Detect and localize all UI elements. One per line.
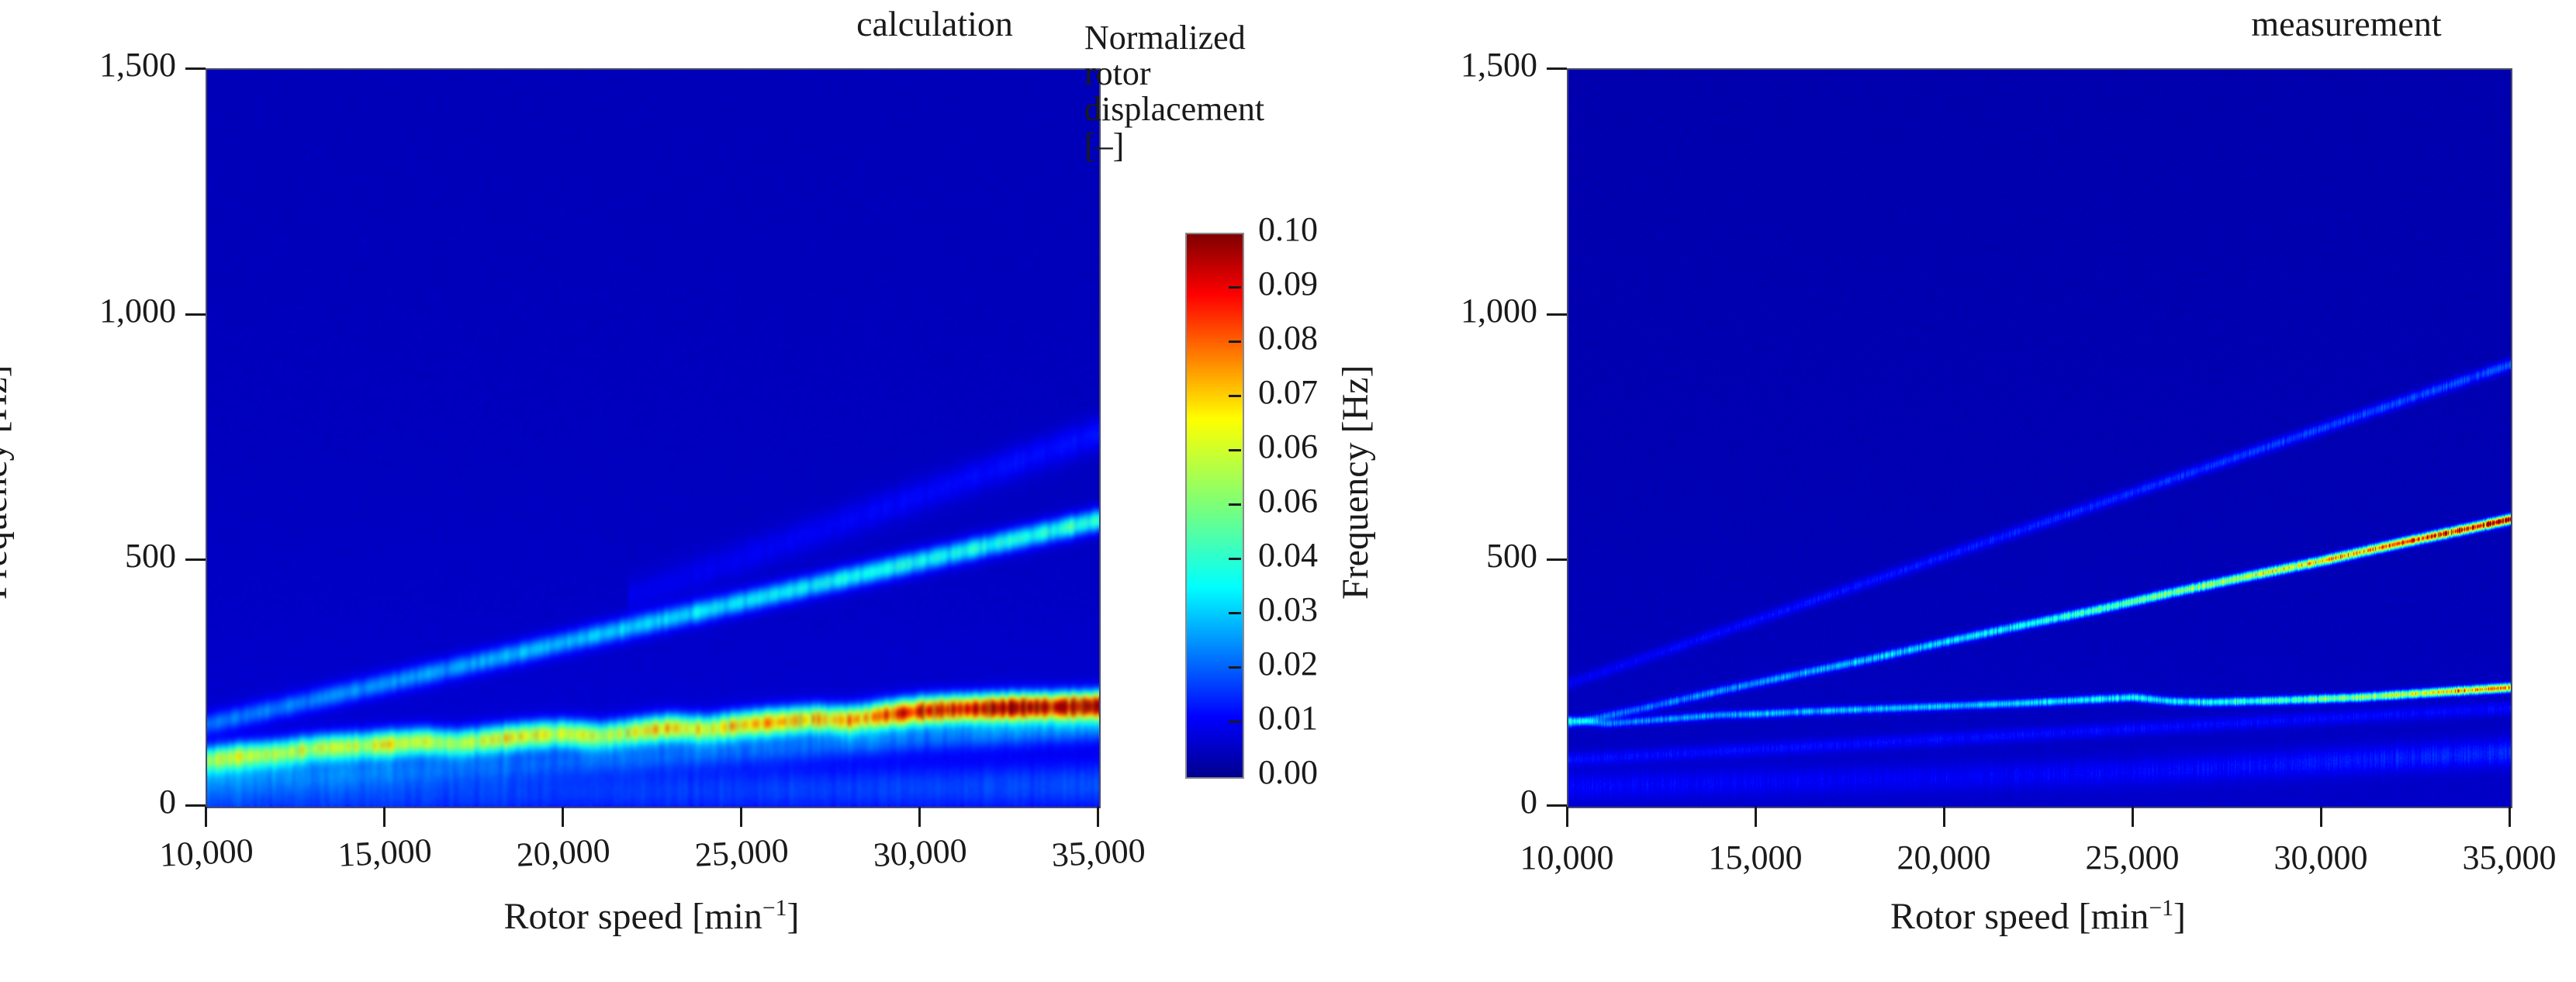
x-tick-label: 30,000 [828, 828, 1012, 877]
colorbar-tick-mark [1229, 395, 1241, 397]
colorbar-tick-mark [1229, 286, 1241, 289]
colorbar-title-line: rotor [1084, 56, 1340, 92]
x-tick-mark [562, 807, 564, 827]
colorbar-tick-label: 0.08 [1258, 318, 1318, 358]
x-tick-label: 35,000 [1006, 828, 1191, 877]
y-tick-mark [1547, 313, 1567, 316]
x-axis-label-text: Rotor speed [min [1890, 896, 2149, 937]
x-tick-mark [740, 807, 742, 827]
x-tick-mark [2132, 807, 2134, 827]
heatmap-canvas-measurement [1568, 70, 2511, 807]
colorbar-tick-mark [1229, 449, 1241, 451]
x-tick-label: 25,000 [649, 828, 834, 877]
x-tick-mark [2320, 807, 2322, 827]
colorbar-tick-label: 0.00 [1258, 752, 1318, 792]
colorbar-title: Normalizedrotordisplacement[–] [1084, 20, 1340, 164]
x-axis-label-close: ] [787, 896, 799, 937]
colorbar [1185, 233, 1244, 779]
colorbar-tick-label: 0.09 [1258, 264, 1318, 303]
colorbar-tick-label: 0.06 [1258, 427, 1318, 466]
y-tick-label: 500 [0, 536, 176, 576]
x-tick-label: 15,000 [292, 828, 477, 877]
x-axis-label-exponent: −1 [762, 895, 787, 921]
x-tick-mark [1755, 807, 1757, 827]
y-tick-label: 0 [1343, 782, 1537, 821]
x-axis-label-calculation: Rotor speed [min−1] [434, 895, 869, 938]
y-tick-mark [1547, 67, 1567, 70]
colorbar-tick-label: 0.03 [1258, 590, 1318, 629]
x-tick-mark [2509, 807, 2511, 827]
colorbar-tick-label: 0.01 [1258, 698, 1318, 738]
x-tick-label: 20,000 [1852, 838, 2035, 877]
panel-title-measurement: measurement [2184, 6, 2509, 42]
heatmap-canvas-calculation [207, 70, 1099, 807]
y-tick-mark [185, 313, 206, 316]
colorbar-tick-label: 0.02 [1258, 644, 1318, 683]
x-axis-label-exponent: −1 [2149, 895, 2173, 921]
x-axis-label-close: ] [2173, 896, 2186, 937]
x-tick-label: 10,000 [1475, 838, 1658, 877]
x-tick-mark [1943, 807, 1945, 827]
x-tick-mark [918, 807, 921, 827]
x-tick-label: 35,000 [2418, 838, 2576, 877]
colorbar-tick-mark [1229, 341, 1241, 343]
colorbar-tick-mark [1229, 612, 1241, 614]
x-tick-mark [1097, 807, 1099, 827]
y-tick-label: 1,000 [0, 291, 176, 330]
y-tick-mark [1547, 804, 1567, 807]
y-tick-mark [185, 67, 206, 70]
colorbar-title-line: [–] [1084, 128, 1340, 164]
x-tick-label: 30,000 [2229, 838, 2412, 877]
x-tick-label: 15,000 [1664, 838, 1847, 877]
y-tick-label: 1,500 [1343, 45, 1537, 85]
y-tick-label: 500 [1343, 536, 1537, 576]
colorbar-tick-mark [1229, 558, 1241, 560]
y-tick-mark [185, 804, 206, 807]
x-tick-label: 20,000 [471, 828, 655, 877]
colorbar-title-line: Normalized [1084, 20, 1340, 56]
y-tick-mark [1547, 558, 1567, 561]
colorbar-tick-label: 0.04 [1258, 535, 1318, 575]
x-tick-mark [383, 807, 386, 827]
colorbar-tick-label: 0.06 [1258, 481, 1318, 520]
x-tick-mark [1566, 807, 1568, 827]
colorbar-gradient [1187, 234, 1243, 777]
colorbar-tick-label: 0.10 [1258, 209, 1318, 249]
colorbar-tick-mark [1229, 721, 1241, 723]
x-tick-label: 10,000 [114, 828, 299, 877]
colorbar-tick-mark [1229, 503, 1241, 506]
x-tick-label: 25,000 [2041, 838, 2224, 877]
y-tick-mark [185, 558, 206, 561]
heatmap-measurement [1567, 68, 2512, 808]
colorbar-tick-label: 0.07 [1258, 372, 1318, 412]
figure-root: calculation Frequency [Hz] Rotor speed [… [0, 0, 2576, 982]
x-tick-mark [205, 807, 207, 827]
y-tick-label: 0 [0, 782, 176, 821]
x-axis-label-measurement: Rotor speed [min−1] [1821, 895, 2256, 938]
colorbar-tick-mark [1229, 666, 1241, 669]
colorbar-title-line: displacement [1084, 92, 1340, 127]
x-axis-label-text: Rotor speed [min [504, 896, 762, 937]
y-tick-label: 1,000 [1343, 291, 1537, 330]
y-tick-label: 1,500 [0, 45, 176, 85]
heatmap-calculation [206, 68, 1101, 808]
panel-title-calculation: calculation [772, 6, 1098, 42]
